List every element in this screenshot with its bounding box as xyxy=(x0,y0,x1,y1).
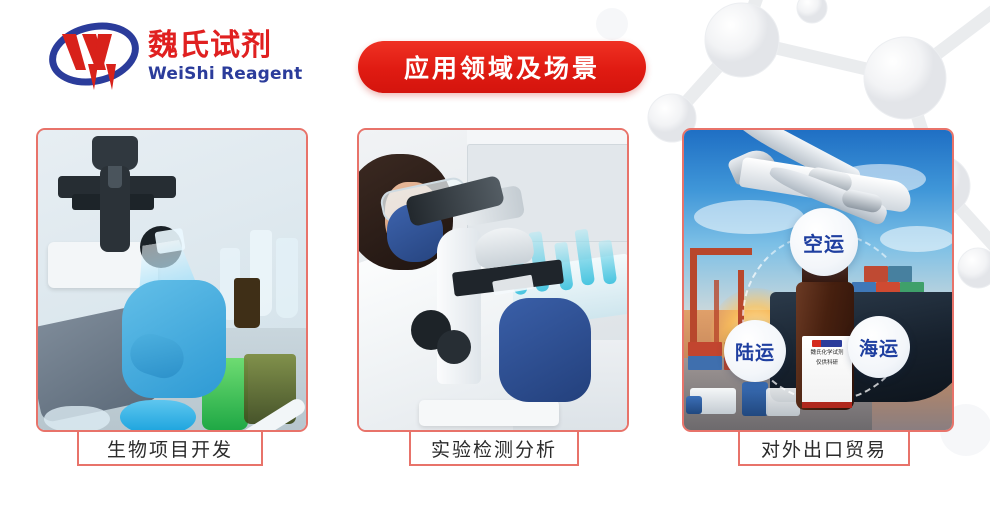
bottle-label-line2: 仅供科研 xyxy=(816,359,838,367)
card-caption: 对外出口贸易 xyxy=(738,430,910,466)
transport-badge-land-label: 陆运 xyxy=(735,338,775,365)
application-cards-row: 魏氏化学试剂 仅供科研 空运 陆运 海运 生物项目开发 实验检测分析 对外 xyxy=(0,128,990,473)
card-photo-bio-project xyxy=(38,130,306,430)
transport-badge-land[interactable]: 陆运 xyxy=(724,320,786,382)
card-caption-text: 对外出口贸易 xyxy=(761,435,887,462)
transport-badge-sea[interactable]: 海运 xyxy=(848,316,910,378)
card-caption: 生物项目开发 xyxy=(77,430,263,466)
brand-name-en: WeiShi Reagent xyxy=(148,64,302,84)
reagent-bottle: 魏氏化学试剂 仅供科研 xyxy=(794,258,856,410)
transport-badge-air[interactable]: 空运 xyxy=(790,208,858,276)
section-title-banner: 应用领域及场景 xyxy=(358,41,646,93)
card-caption: 实验检测分析 xyxy=(409,430,579,466)
brand-name-cn: 魏氏试剂 xyxy=(148,30,302,62)
transport-badge-sea-label: 海运 xyxy=(859,334,899,361)
application-card[interactable]: 魏氏化学试剂 仅供科研 空运 陆运 海运 xyxy=(682,128,954,432)
application-card[interactable] xyxy=(36,128,308,432)
card-caption-text: 实验检测分析 xyxy=(431,435,557,462)
section-title-text: 应用领域及场景 xyxy=(404,49,600,85)
transport-badge-air-label: 空运 xyxy=(803,228,845,257)
brand-logo: 魏氏试剂 WeiShi Reagent xyxy=(46,18,326,96)
card-photo-export-trade: 魏氏化学试剂 仅供科研 空运 陆运 海运 xyxy=(684,130,952,430)
application-card[interactable] xyxy=(357,128,629,432)
bottle-label-line1: 魏氏化学试剂 xyxy=(810,349,843,357)
card-photo-lab-testing xyxy=(359,130,627,430)
card-caption-text: 生物项目开发 xyxy=(107,435,233,462)
brand-text: 魏氏试剂 WeiShi Reagent xyxy=(148,30,302,85)
page-header: 魏氏试剂 WeiShi Reagent 应用领域及场景 xyxy=(0,0,990,125)
weishi-w-logo-icon xyxy=(46,20,142,94)
bottle-label: 魏氏化学试剂 仅供科研 xyxy=(802,336,852,408)
bottle-label-logo-icon xyxy=(812,340,842,347)
